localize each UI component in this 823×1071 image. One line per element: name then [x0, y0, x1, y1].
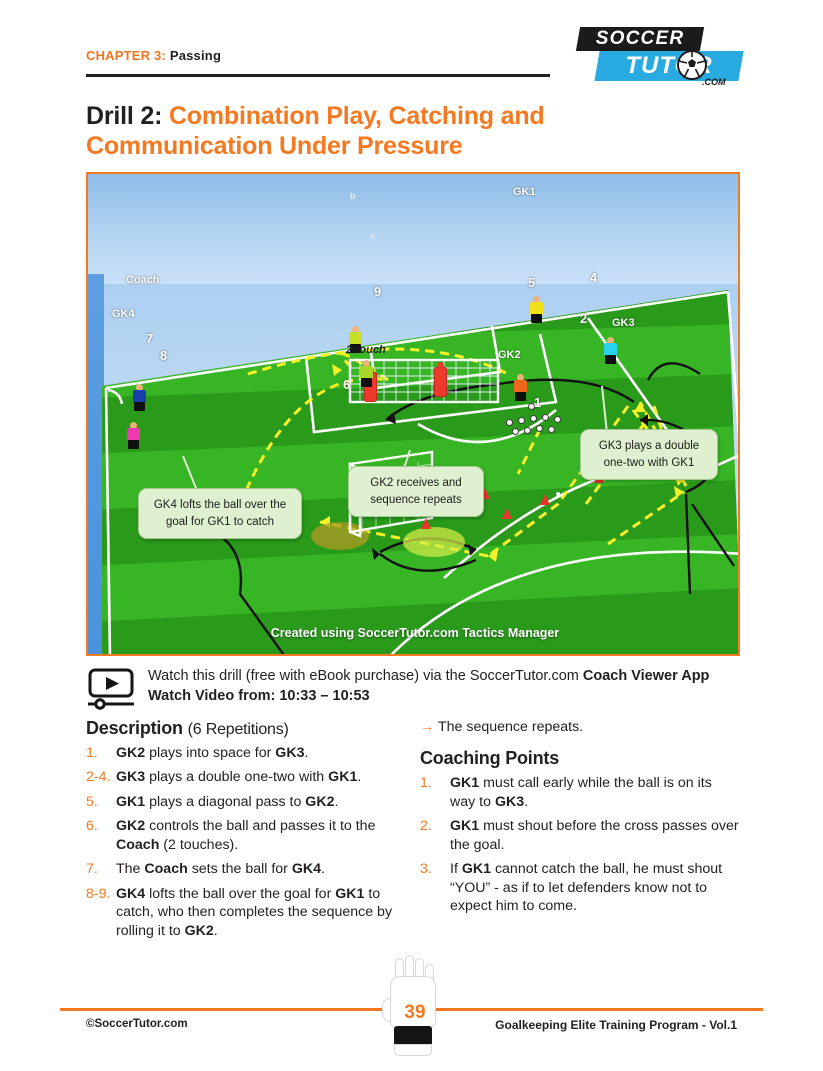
description-step-text: GK1 plays a diagonal pass to GK2. — [116, 794, 338, 810]
label-gk2: GK2 — [498, 349, 521, 361]
drill-number-label: Drill 2: — [86, 102, 162, 130]
description-repetitions: (6 Repetitions) — [188, 721, 289, 738]
chapter-label: CHAPTER 3: — [86, 48, 166, 63]
coaching-point-number: 2. — [420, 817, 446, 835]
player-gk1-diving — [359, 360, 374, 390]
coaching-point-1: 1.GK1 must call early while the ball is … — [420, 774, 740, 811]
chapter-title: Passing — [170, 48, 221, 63]
sequence-repeats-line: → The sequence repeats. — [420, 718, 740, 736]
seq-number-4: 4 — [590, 270, 597, 285]
callout-gk2: GK2 receives and sequence repeats — [348, 466, 484, 517]
seq-number-5: 5 — [528, 275, 535, 290]
coaching-point-number: 3. — [420, 860, 446, 878]
description-heading: Description (6 Repetitions) — [86, 718, 406, 739]
description-step-5: 7.The Coach sets the ball for GK4. — [86, 860, 406, 878]
description-step-number: 2-4. — [86, 768, 112, 786]
coaching-point-list: 1.GK1 must call early while the ball is … — [420, 774, 740, 915]
cone — [540, 494, 550, 505]
description-heading-text: Description — [86, 718, 183, 738]
ball — [530, 415, 537, 422]
ball — [518, 417, 525, 424]
page-number: 39 — [382, 1002, 448, 1024]
seq-number-1: 1 — [534, 395, 541, 410]
description-step-number: 8-9. — [86, 885, 112, 903]
ball — [512, 428, 519, 435]
player-gk2 — [513, 374, 528, 404]
arrow-right-icon: → — [420, 718, 434, 736]
video-promo-row[interactable]: Watch this drill (free with eBook purcha… — [86, 666, 740, 714]
label-gk1: GK1 — [513, 186, 536, 198]
mannequin — [434, 367, 447, 397]
marker-b: b — [350, 191, 356, 201]
description-step-number: 1. — [86, 744, 112, 762]
video-player-icon[interactable] — [86, 668, 138, 710]
description-step-3: 5.GK1 plays a diagonal pass to GK2. — [86, 793, 406, 811]
seq-number-2: 2 — [580, 311, 587, 326]
description-step-text: The Coach sets the ball for GK4. — [116, 861, 325, 877]
video-line1-plain: Watch this drill (free with eBook purcha… — [148, 668, 583, 684]
page-title: Drill 2: Combination Play, Catching and … — [86, 102, 706, 161]
cone — [502, 508, 512, 519]
description-step-2: 2-4.GK3 plays a double one-two with GK1. — [86, 768, 406, 786]
player-gk3 — [603, 337, 618, 367]
callout-gk4: GK4 lofts the ball over the goal for GK1… — [138, 488, 302, 539]
footer-book-title: Goalkeeping Elite Training Program - Vol… — [495, 1018, 737, 1032]
coaching-column: → The sequence repeats. Coaching Points … — [420, 718, 740, 922]
diagram-caption: Created using SoccerTutor.com Tactics Ma… — [88, 626, 740, 640]
player-coach — [132, 384, 147, 414]
video-app-name: Coach Viewer App — [583, 668, 710, 684]
video-line-1: Watch this drill (free with eBook purcha… — [148, 666, 740, 686]
ball — [548, 426, 555, 433]
description-step-1: 1.GK2 plays into space for GK3. — [86, 744, 406, 762]
seq-number-6: 6 — [343, 377, 350, 392]
coaching-heading: Coaching Points — [420, 748, 740, 769]
seq-number-9: 9 — [374, 284, 381, 299]
video-text-block: Watch this drill (free with eBook purcha… — [148, 666, 740, 706]
description-step-number: 6. — [86, 817, 112, 835]
soccertutor-logo[interactable]: SOCCER TUTOR .COM — [573, 27, 741, 85]
zone-receive — [403, 527, 465, 557]
pitch-turf — [88, 174, 740, 656]
label-gk3: GK3 — [612, 317, 635, 329]
coaching-point-text: If GK1 cannot catch the ball, he must sh… — [450, 861, 722, 914]
description-step-list: 1.GK2 plays into space for GK3.2-4.GK3 p… — [86, 744, 406, 940]
goalkeeper-glove-icon: 39 — [382, 958, 448, 1062]
player-gk1 — [529, 296, 544, 326]
annotation-2touch: 2-touch — [346, 344, 386, 356]
logo-dotcom-text: .COM — [702, 77, 726, 87]
description-step-6: 8-9.GK4 lofts the ball over the goal for… — [86, 885, 406, 940]
cone — [421, 518, 431, 529]
coaching-point-text: GK1 must shout before the cross passes o… — [450, 818, 739, 852]
coaching-point-number: 1. — [420, 774, 446, 792]
logo-soccer-word: SOCCER — [576, 27, 704, 51]
coaching-point-3: 3.If GK1 cannot catch the ball, he must … — [420, 860, 740, 915]
seq-number-8: 8 — [160, 348, 167, 363]
description-step-text: GK2 plays into space for GK3. — [116, 745, 308, 761]
description-step-number: 5. — [86, 793, 112, 811]
label-gk4: GK4 — [112, 308, 135, 320]
header-divider — [86, 74, 550, 77]
breadcrumb: CHAPTER 3: Passing — [86, 48, 221, 63]
coaching-point-text: GK1 must call early while the ball is on… — [450, 775, 712, 809]
video-timestamp: Watch Video from: 10:33 – 10:53 — [148, 686, 740, 706]
ball — [524, 427, 531, 434]
drill-diagram: Coach GK1 GK2 GK3 GK4 1 2 4 5 6 7 8 9 b … — [86, 172, 740, 656]
label-coach: Coach — [126, 274, 160, 286]
description-column: Description (6 Repetitions) 1.GK2 plays … — [86, 718, 406, 946]
player-gk4 — [126, 422, 141, 452]
marker-c: c — [370, 231, 375, 241]
description-step-text: GK4 lofts the ball over the goal for GK1… — [116, 886, 392, 939]
description-step-text: GK2 controls the ball and passes it to t… — [116, 818, 375, 852]
description-step-text: GK3 plays a double one-two with GK1. — [116, 769, 361, 785]
description-step-number: 7. — [86, 860, 112, 878]
callout-gk3: GK3 plays a double one-two with GK1 — [580, 429, 718, 480]
description-step-4: 6.GK2 controls the ball and passes it to… — [86, 817, 406, 854]
ball — [554, 416, 561, 423]
seq-number-7: 7 — [146, 331, 153, 346]
coaching-point-2: 2.GK1 must shout before the cross passes… — [420, 817, 740, 854]
logo-soccer-text: SOCCER — [578, 27, 702, 51]
sequence-repeats-text: The sequence repeats. — [438, 719, 583, 735]
page-header: CHAPTER 3: Passing SOCCER TUTOR .COM — [0, 0, 823, 95]
footer-copyright: ©SoccerTutor.com — [86, 1018, 188, 1030]
ball — [506, 419, 513, 426]
ball — [542, 414, 549, 421]
soccer-ball-icon — [677, 50, 707, 80]
ball — [536, 425, 543, 432]
